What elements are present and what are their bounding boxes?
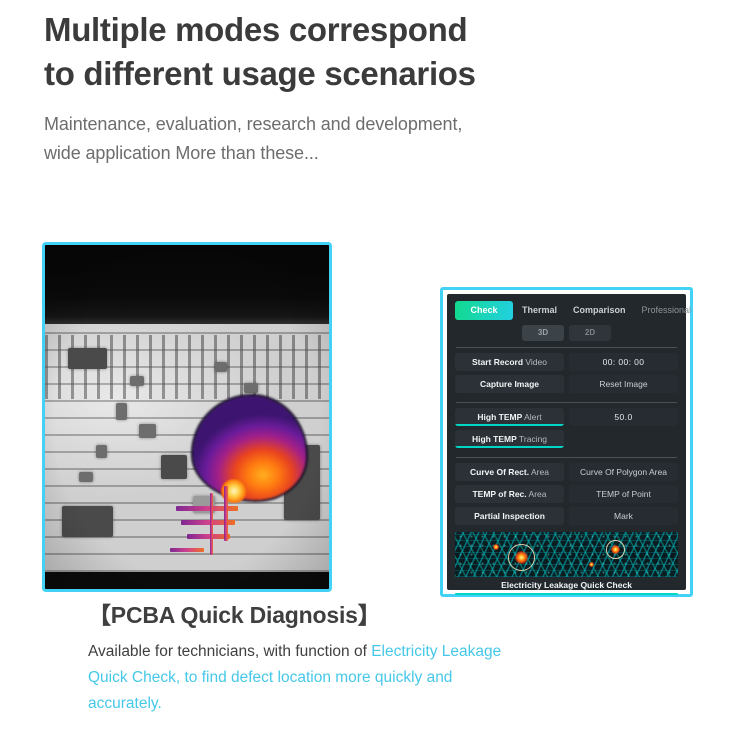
partial-inspection-label: Partial Inspection <box>474 511 545 521</box>
device-ui-panel-frame: Check Thermal Comparison Professional 3D… <box>440 287 693 597</box>
temp-of-rec-suffix: Area <box>527 489 547 499</box>
curve-of-rect-label: Curve Of Rect. <box>470 467 529 477</box>
thermal-chip <box>244 383 258 393</box>
high-temp-tracing-row: High TEMP Tracing <box>455 430 678 448</box>
thermal-chip <box>62 506 113 537</box>
curve-of-rect-area-button[interactable]: Curve Of Rect. Area <box>455 463 564 481</box>
thermal-bezel-band <box>45 245 329 328</box>
high-temp-alert-suffix: Alert <box>522 412 541 422</box>
caption-body-plain: Available for technicians, with function… <box>88 643 371 660</box>
curve-of-polygon-area-button[interactable]: Curve Of Polygon Area <box>569 463 678 481</box>
page-subheadline: Maintenance, evaluation, research and de… <box>44 110 664 168</box>
electricity-leakage-quick-check-widget[interactable]: Electricity Leakage Quick Check <box>455 532 678 595</box>
headline-line-1: Multiple modes correspond <box>44 8 664 52</box>
device-ui-panel: Check Thermal Comparison Professional 3D… <box>447 294 686 590</box>
caption-title: 【PCBA Quick Diagnosis】 <box>88 596 508 630</box>
high-temp-alert-button[interactable]: High TEMP Alert <box>455 408 564 426</box>
temp-of-point-button[interactable]: TEMP of Point <box>569 485 678 503</box>
thermal-hot-trace <box>210 493 213 555</box>
thermal-chip <box>130 376 144 386</box>
leakage-hotspot-icon <box>611 545 620 554</box>
high-temp-alert-label: High TEMP <box>477 412 522 422</box>
high-temp-tracing-empty-slot <box>569 430 678 448</box>
mark-button[interactable]: Mark <box>569 507 678 525</box>
page-headline: Multiple modes correspond to different u… <box>44 8 664 96</box>
view-mode-2d-button[interactable]: 2D <box>569 325 611 341</box>
thermal-chip <box>68 348 108 369</box>
high-temp-tracing-label: High TEMP <box>472 434 517 444</box>
thermal-chip <box>161 455 187 479</box>
panel-tab-bar: Check Thermal Comparison Professional <box>455 301 678 320</box>
page-root: Multiple modes correspond to different u… <box>0 0 750 750</box>
high-temp-tracing-suffix: Tracing <box>517 434 547 444</box>
partial-inspection-row: Partial Inspection Mark <box>455 507 678 525</box>
thermal-chip <box>116 403 127 420</box>
capture-image-button[interactable]: Capture Image <box>455 375 564 393</box>
thermal-hot-trace <box>176 506 238 511</box>
record-timer-value: 00: 00: 00 <box>569 353 678 371</box>
temp-of-rec-area-button[interactable]: TEMP of Rec. Area <box>455 485 564 503</box>
view-mode-toggle: 3D 2D <box>455 325 678 341</box>
caption-body: Available for technicians, with function… <box>88 639 508 717</box>
capture-row: Capture Image Reset Image <box>455 375 678 393</box>
subheadline-line-2: wide application More than these... <box>44 139 664 168</box>
high-temp-tracing-button[interactable]: High TEMP Tracing <box>455 430 564 448</box>
thermal-image-frame <box>42 242 332 592</box>
thermal-image <box>45 245 329 589</box>
thermal-hot-region <box>193 396 307 499</box>
curve-area-row: Curve Of Rect. Area Curve Of Polygon Are… <box>455 463 678 481</box>
temp-of-rec-label: TEMP of Rec. <box>472 489 526 499</box>
start-record-label: Start Record <box>472 357 523 367</box>
electricity-leakage-underline <box>455 593 678 595</box>
tab-comparison[interactable]: Comparison <box>566 301 633 320</box>
leakage-hotspot-icon <box>493 544 499 550</box>
electricity-leakage-quick-check-label: Electricity Leakage Quick Check <box>455 579 678 592</box>
reset-image-button[interactable]: Reset Image <box>569 375 678 393</box>
headline-line-2: to different usage scenarios <box>44 52 664 96</box>
thermal-chip <box>215 362 226 372</box>
panel-divider <box>456 347 677 348</box>
thermal-chip <box>139 424 156 438</box>
circuit-via-dots <box>455 532 678 577</box>
caption-block: 【PCBA Quick Diagnosis】 Available for tec… <box>88 596 508 717</box>
panel-divider <box>456 402 677 403</box>
high-temp-alert-value[interactable]: 50.0 <box>569 408 678 426</box>
start-record-video-button[interactable]: Start Record Video <box>455 353 564 371</box>
header-block: Multiple modes correspond to different u… <box>44 8 664 168</box>
leakage-hotspot-icon <box>589 562 594 567</box>
tab-check[interactable]: Check <box>455 301 513 320</box>
high-temp-alert-row: High TEMP Alert 50.0 <box>455 408 678 426</box>
partial-inspection-button[interactable]: Partial Inspection <box>455 507 564 525</box>
curve-of-rect-suffix: Area <box>529 467 549 477</box>
tab-professional[interactable]: Professional <box>635 301 699 320</box>
panel-divider <box>456 457 677 458</box>
start-record-suffix: Video <box>523 357 547 367</box>
thermal-hot-trace <box>170 548 204 552</box>
capture-image-label: Capture Image <box>480 379 539 389</box>
record-row: Start Record Video 00: 00: 00 <box>455 353 678 371</box>
circuit-board-thumbnail[interactable] <box>455 532 678 577</box>
thermal-hot-trace <box>224 486 228 541</box>
leakage-hotspot-icon <box>515 551 528 564</box>
subheadline-line-1: Maintenance, evaluation, research and de… <box>44 110 664 139</box>
temp-area-row: TEMP of Rec. Area TEMP of Point <box>455 485 678 503</box>
tab-thermal[interactable]: Thermal <box>515 301 564 320</box>
thermal-chip <box>96 445 107 459</box>
thermal-chip <box>79 472 93 482</box>
view-mode-3d-button[interactable]: 3D <box>522 325 564 341</box>
